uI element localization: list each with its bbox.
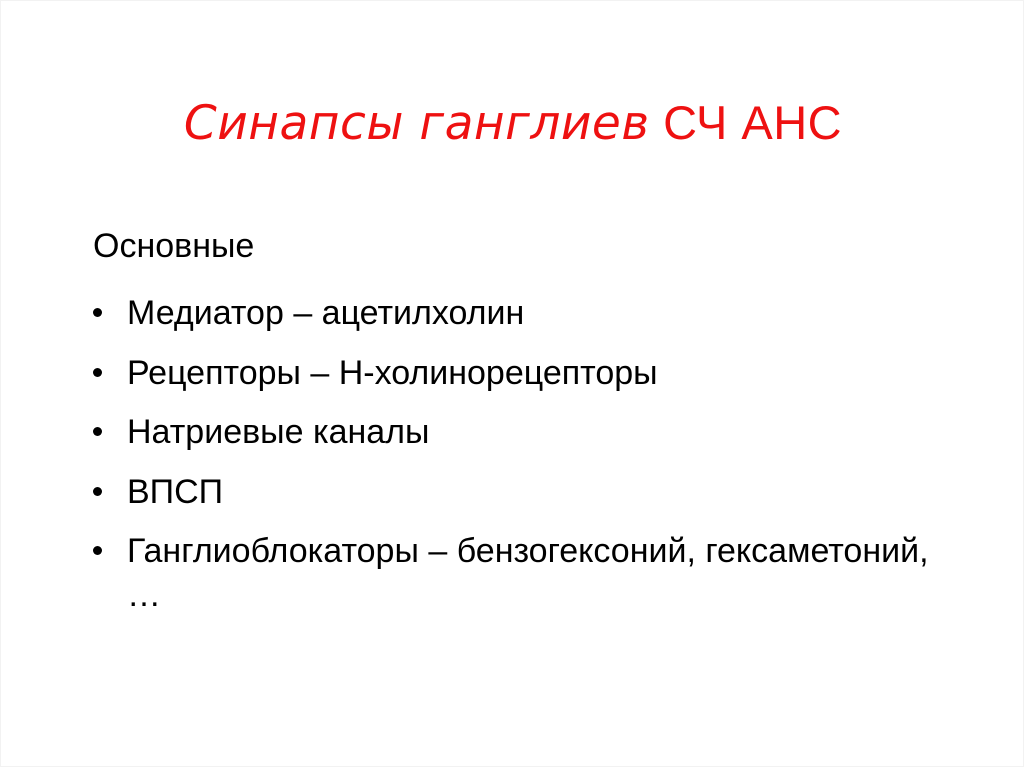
slide-title-abbreviation-part: СЧ АНС <box>650 96 843 149</box>
bullet-dot-icon <box>93 487 102 496</box>
bullet-dot-icon <box>93 427 102 436</box>
list-item: Медиатор – ацетилхолин <box>93 292 953 336</box>
slide-body: Основные Медиатор – ацетилхолин Рецептор… <box>93 229 953 617</box>
list-item-label: Ганглиоблокаторы – бензогексоний, гексам… <box>127 530 953 617</box>
bullet-dot-icon <box>93 546 102 555</box>
list-item: Ганглиоблокаторы – бензогексоний, гексам… <box>93 530 953 617</box>
list-item: ВПСП <box>93 471 953 515</box>
bullet-list: Медиатор – ацетилхолин Рецепторы – Н-хол… <box>93 292 953 617</box>
list-item: Натриевые каналы <box>93 411 953 455</box>
slide-title: Синапсы ганглиев СЧ АНС <box>1 97 1024 150</box>
bullet-dot-icon <box>93 368 102 377</box>
bullet-dot-icon <box>93 308 102 317</box>
list-item-label: Медиатор – ацетилхолин <box>127 292 953 336</box>
slide-canvas: Синапсы ганглиев СЧ АНС Основные Медиато… <box>0 0 1024 767</box>
list-item-label: Натриевые каналы <box>127 411 953 455</box>
list-item-label: ВПСП <box>127 471 953 515</box>
list-item: Рецепторы – Н-холинорецепторы <box>93 352 953 396</box>
body-lead-item: Основные <box>93 229 953 263</box>
list-item-label: Рецепторы – Н-холинорецепторы <box>127 352 953 396</box>
slide-title-decorative-part: Синапсы ганглиев <box>184 96 650 151</box>
